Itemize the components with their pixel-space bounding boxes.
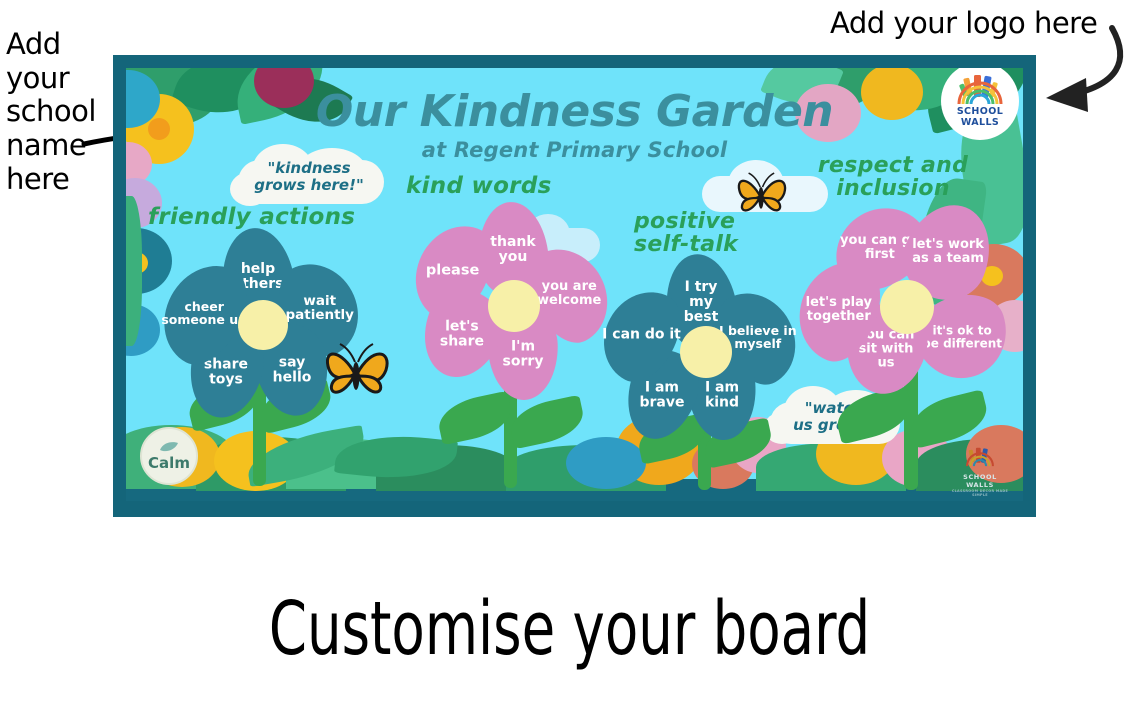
page-caption: Customise your board [103,592,1037,666]
heading-kind-words: kind words [406,173,552,199]
flower-positive-self-talk[interactable]: I try my best I believe in myself I am k… [612,254,802,420]
petal-label: say hello [262,355,322,385]
board-canvas: Our Kindness Garden at Regent Primary Sc… [126,68,1023,501]
flower-core-friendly [238,300,288,350]
petal-label: wait patiently [278,294,362,323]
petal-label: I'm sorry [494,339,552,369]
petal-label: please [426,263,479,278]
annotation-logo: Add your logo here [830,6,1097,40]
flower-core-positive [680,326,732,378]
butterfly-left [322,340,390,402]
leaf-kind-right [507,395,588,450]
watermark-text: SCHOOL WALLS [949,473,1011,489]
petal-label: I can do it [602,328,681,343]
petal-label: let's play together [794,296,884,324]
leaf-icon [159,441,179,453]
calm-badge[interactable]: Calm [140,427,198,485]
butterfly-top [734,170,788,218]
kindness-cloud: "kindnessgrows here!" [230,144,388,206]
heading-respect-and-inclusion: respect andinclusion [798,154,988,200]
petal-label: I am kind [694,380,750,410]
petal-label: let's work as a team [912,238,984,266]
petal-label: I am brave [634,380,690,410]
calm-badge-label: Calm [148,454,190,472]
watermark-subtext: CLASSROOM DECOR MADE SIMPLE [949,489,1011,497]
logo-text: SCHOOLWALLS [957,106,1003,128]
petal-label: let's share [430,319,494,349]
flower-core-respect [880,280,934,334]
flower-respect-inclusion[interactable]: you can go first let's work as a team it… [802,204,1012,380]
ground-flower-blue-1 [566,437,646,489]
rainbow-pencils-icon [955,74,1005,106]
petal-label: it's ok to be different [922,324,1002,349]
heading-friendly-actions: friendly actions [148,204,355,230]
annotation-school-name: Add your school name here [6,28,116,196]
foliage-left-strip [126,196,142,346]
school-walls-watermark: SCHOOL WALLS CLASSROOM DECOR MADE SIMPLE [949,447,1011,497]
flower-kind-words[interactable]: thank you you are welcome I'm sorry let'… [416,202,612,372]
page-title: Our Kindness Garden [126,90,1023,134]
petal-label: cheer someone up [158,300,250,327]
flower-core-kind [488,280,540,332]
cloud-text: "kindnessgrows here!" [230,160,388,195]
rainbow-pencils-icon-small [963,447,997,469]
display-board[interactable]: Our Kindness Garden at Regent Primary Sc… [113,55,1036,517]
